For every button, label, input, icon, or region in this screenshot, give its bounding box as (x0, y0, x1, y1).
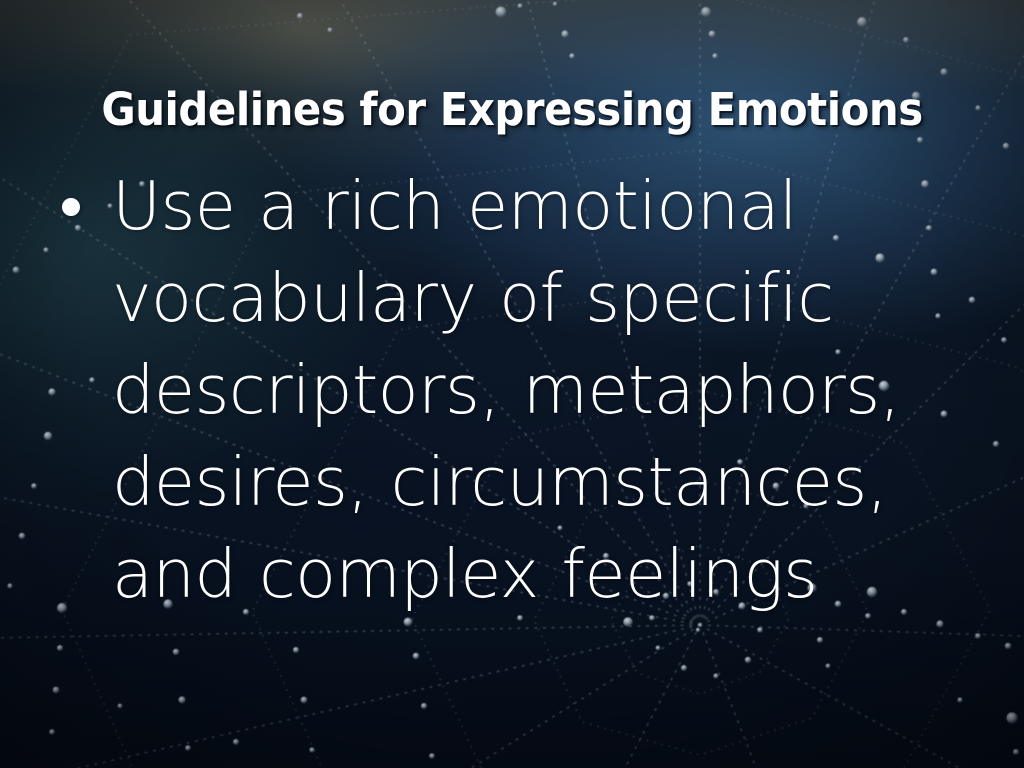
bullet-item-text: Use a rich emotional vocabulary of speci… (112, 160, 962, 620)
slide-title: Guidelines for Expressing Emotions (36, 86, 988, 135)
bullet-list: Use a rich emotional vocabulary of speci… (62, 160, 962, 620)
slide-content: Guidelines for Expressing Emotions Use a… (0, 0, 1024, 768)
bullet-dot-icon (62, 198, 80, 216)
bullet-line: descriptors, metaphors, (112, 344, 962, 436)
bullet-line: Use a rich emotional (112, 160, 962, 252)
bullet-line: and complex feelings (112, 528, 962, 620)
bullet-line: desires, circumstances, (112, 436, 962, 528)
slide-canvas: Guidelines for Expressing Emotions Use a… (0, 0, 1024, 768)
bullet-line: vocabulary of specific (112, 252, 962, 344)
